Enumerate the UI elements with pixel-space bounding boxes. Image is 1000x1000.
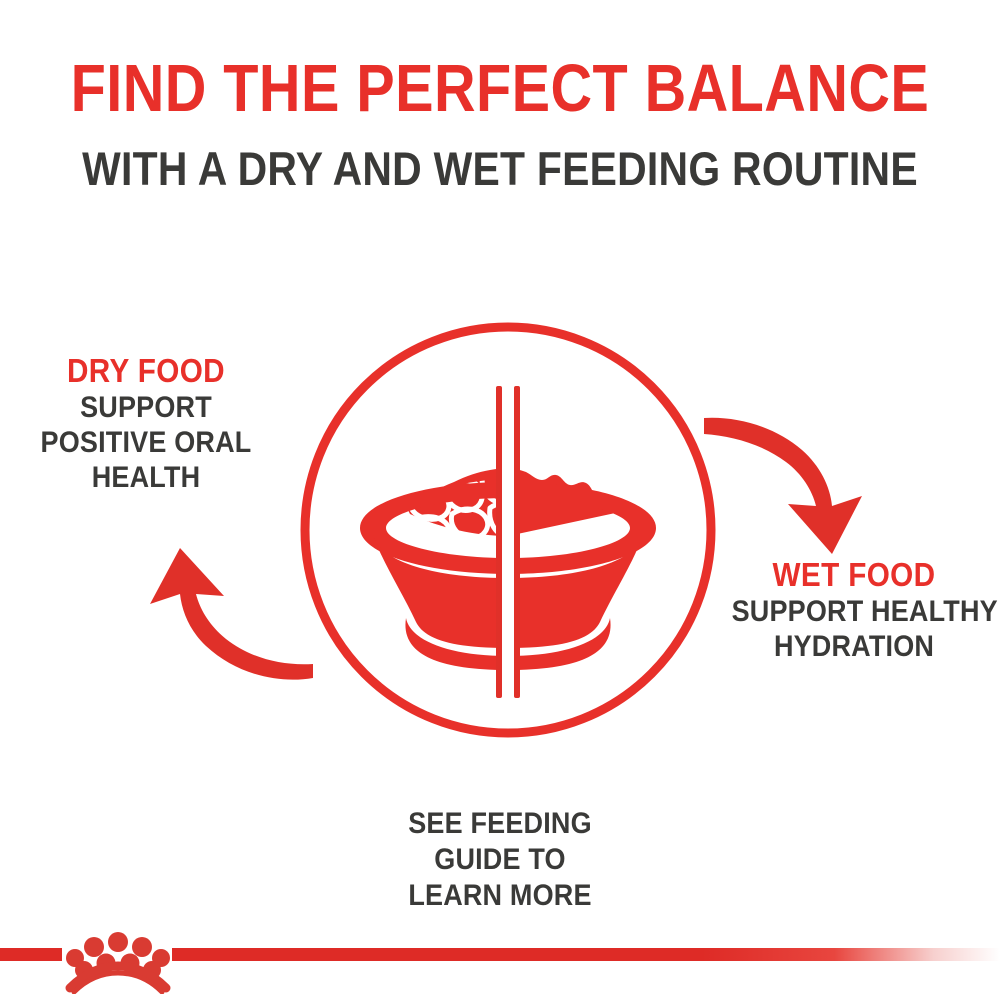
footer-brand-band bbox=[0, 930, 1000, 1000]
callout-wet-food-line-1: SUPPORT HEALTHY bbox=[732, 594, 977, 629]
bowl-body-group bbox=[356, 468, 660, 670]
royal-canin-crown-logo-icon bbox=[62, 922, 174, 994]
callout-dry-food-line-1: SUPPORT bbox=[24, 390, 269, 425]
callout-dry-food-line-3: HEALTH bbox=[24, 460, 269, 495]
callout-dry-food-title: DRY FOOD bbox=[24, 352, 269, 390]
curved-arrow-up-left-icon bbox=[128, 534, 313, 684]
bottom-caption-line-1: SEE FEEDING bbox=[50, 806, 950, 842]
split-pet-food-bowl-icon bbox=[298, 322, 718, 742]
page-subtitle: WITH A DRY AND WET FEEDING ROUTINE bbox=[65, 142, 935, 195]
bottom-caption-line-2: GUIDE TO bbox=[50, 842, 950, 878]
callout-dry-food-line-2: POSITIVE ORAL bbox=[24, 425, 269, 460]
bottom-caption-line-3: LEARN MORE bbox=[50, 878, 950, 914]
page-title: FIND THE PERFECT BALANCE bbox=[70, 52, 930, 126]
callout-dry-food: DRY FOOD SUPPORT POSITIVE ORAL HEALTH bbox=[10, 352, 282, 495]
bottom-caption: SEE FEEDING GUIDE TO LEARN MORE bbox=[0, 806, 1000, 914]
headline-block: FIND THE PERFECT BALANCE WITH A DRY AND … bbox=[0, 52, 1000, 195]
footer-bar-right bbox=[172, 948, 1000, 961]
callout-wet-food-line-2: HYDRATION bbox=[732, 629, 977, 664]
curved-arrow-down-right-icon bbox=[698, 414, 883, 564]
divider-line-left bbox=[496, 386, 502, 698]
divider-line-right bbox=[514, 386, 520, 698]
callout-wet-food: WET FOOD SUPPORT HEALTHY HYDRATION bbox=[718, 556, 990, 664]
promo-graphic-page: FIND THE PERFECT BALANCE WITH A DRY AND … bbox=[0, 0, 1000, 1000]
footer-bar-left bbox=[0, 948, 62, 961]
